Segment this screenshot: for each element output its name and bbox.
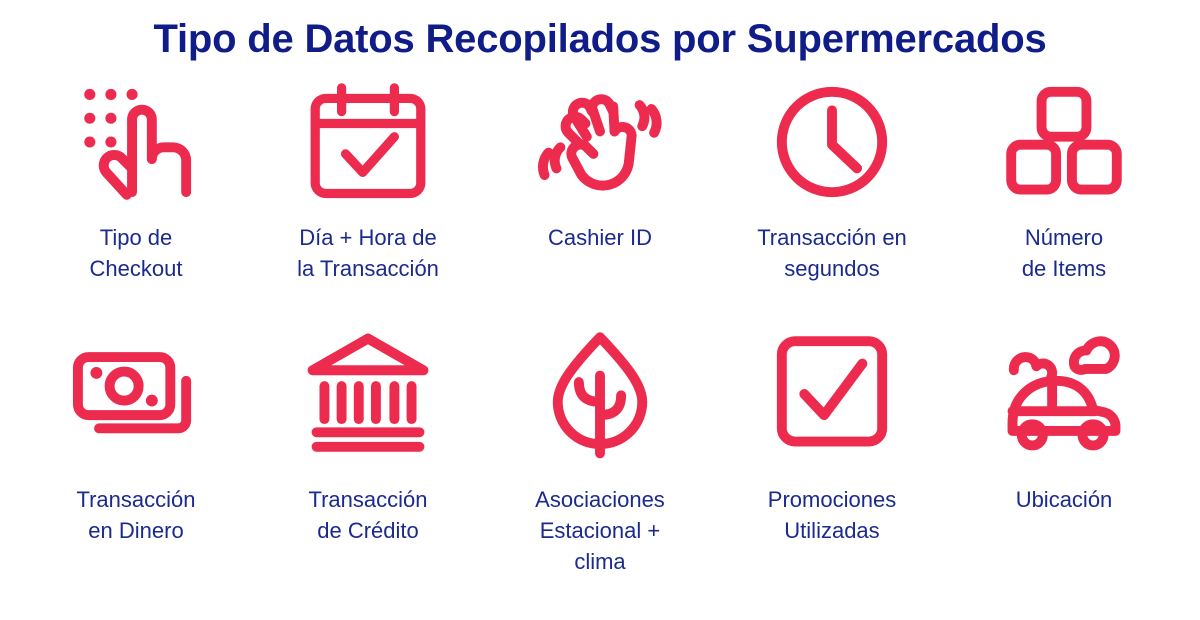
data-type-label: Transacción de Crédito [308, 484, 427, 546]
data-type-item-promociones-utilizadas: Promociones Utilizadas [716, 320, 948, 590]
data-type-label: Transacción en segundos [757, 222, 907, 284]
clock-icon [757, 76, 907, 208]
data-type-label: Día + Hora de la Transacción [297, 222, 439, 284]
banknotes-cash-icon [61, 326, 211, 462]
data-type-label: Tipo de Checkout [90, 222, 183, 284]
data-type-label: Transacción en Dinero [76, 484, 195, 546]
data-type-item-ubicacion: Ubicación [948, 320, 1180, 590]
infographic-page: Tipo de Datos Recopilados por Supermerca… [0, 0, 1200, 620]
data-type-grid: Tipo de Checkout Día + Hora de la Transa… [20, 70, 1180, 590]
page-title: Tipo de Datos Recopilados por Supermerca… [0, 0, 1200, 64]
hand-pointing-keypad-icon [61, 76, 211, 208]
calendar-check-icon [293, 76, 443, 208]
data-type-label: Asociaciones Estacional + clima [535, 484, 665, 577]
leaf-tree-icon [525, 326, 675, 462]
data-type-item-dia-hora-transaccion: Día + Hora de la Transacción [252, 70, 484, 320]
data-type-item-transaccion-en-segundos: Transacción en segundos [716, 70, 948, 320]
data-type-item-numero-de-items: Número de Items [948, 70, 1180, 320]
data-type-label: Promociones Utilizadas [768, 484, 896, 546]
stacked-boxes-icon [989, 76, 1139, 208]
data-type-item-tipo-de-checkout: Tipo de Checkout [20, 70, 252, 320]
data-type-item-asociaciones-estacional-clima: Asociaciones Estacional + clima [484, 320, 716, 590]
bank-building-icon [293, 326, 443, 462]
data-type-item-transaccion-de-credito: Transacción de Crédito [252, 320, 484, 590]
data-type-item-transaccion-en-dinero: Transacción en Dinero [20, 320, 252, 590]
waving-hand-icon [525, 76, 675, 208]
car-clouds-icon [989, 326, 1139, 462]
checkbox-check-icon [757, 326, 907, 462]
data-type-label: Número de Items [1022, 222, 1106, 284]
data-type-label: Ubicación [1016, 484, 1113, 515]
data-type-item-cashier-id: Cashier ID [484, 70, 716, 320]
data-type-label: Cashier ID [548, 222, 652, 253]
